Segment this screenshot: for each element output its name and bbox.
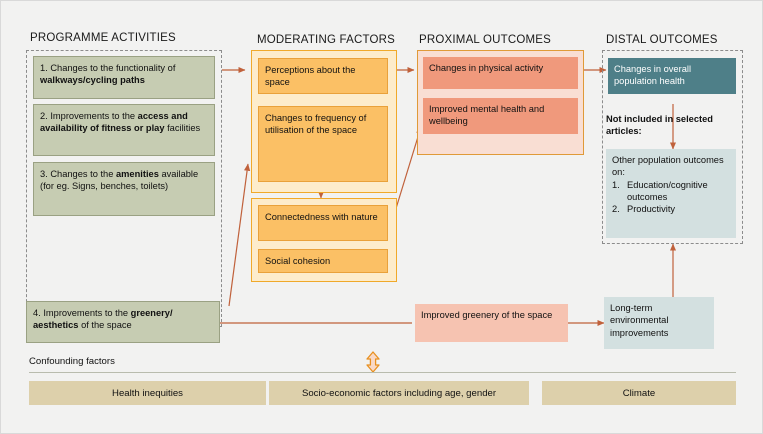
activity-box-2[interactable]: 2. Improvements to the access and availa… [33,104,215,156]
distal-box-population-health[interactable]: Changes in overall population health [608,58,736,94]
other-outcomes-list: 1. Education/cognitive outcomes 2. Produ… [612,179,730,216]
activity-box-4[interactable]: 4. Improvements to the greenery/ aesthet… [26,301,220,343]
confounding-bar-health-inequities[interactable]: Health inequities [29,381,266,405]
other-outcomes-item-1-text: Education/cognitive outcomes [627,179,730,204]
other-outcomes-item-2: 2. Productivity [612,203,730,215]
activity-2-text-lead: 2. Improvements to the [40,111,138,121]
other-outcomes-item-1: 1. Education/cognitive outcomes [612,179,730,204]
activity-2-text-tail: facilities [165,123,201,133]
activity-box-3[interactable]: 3. Changes to the amenities available (f… [33,162,215,216]
moderating-box-connectedness[interactable]: Connectedness with nature [258,205,388,241]
activity-1-text-bold: walkways/cycling paths [40,75,145,85]
confounding-bar-socio-economic[interactable]: Socio-economic factors including age, ge… [269,381,529,405]
distal-box-long-term[interactable]: Long-term environmental improvements [604,297,714,349]
other-outcomes-heading: Other population outcomes on: [612,154,730,179]
confounding-bar-climate[interactable]: Climate [542,381,736,405]
column-title-distal-outcomes: DISTAL OUTCOMES [606,34,718,46]
other-outcomes-item-1-num: 1. [612,179,623,204]
activity-4-text-tail: of the space [78,320,131,330]
up-down-arrow-icon [363,351,383,373]
diagram-canvas: PROGRAMME ACTIVITIES MODERATING FACTORS … [0,0,763,434]
activity-box-1[interactable]: 1. Changes to the functionality of walkw… [33,56,215,99]
other-outcomes-item-2-text: Productivity [627,203,675,215]
column-title-programme-activities: PROGRAMME ACTIVITIES [30,32,176,44]
activity-4-text-lead: 4. Improvements to the [33,308,131,318]
activity-3-text-lead: 3. Changes to the [40,169,116,179]
moderating-box-social-cohesion[interactable]: Social cohesion [258,249,388,273]
other-outcomes-item-2-num: 2. [612,203,623,215]
moderating-box-frequency[interactable]: Changes to frequency of utilisation of t… [258,106,388,182]
proximal-box-physical-activity[interactable]: Changes in physical activity [423,57,578,89]
distal-not-included-note: Not included in selected articles: [606,113,734,143]
moderating-box-perceptions[interactable]: Perceptions about the space [258,58,388,94]
column-title-proximal-outcomes: PROXIMAL OUTCOMES [419,34,551,46]
confounding-divider [29,372,736,373]
activity-3-text-bold: amenities [116,169,159,179]
arrow-greenery-to-moderating [229,164,248,306]
column-title-moderating-factors: MODERATING FACTORS [257,34,395,46]
proximal-box-mental-health[interactable]: Improved mental health and wellbeing [423,98,578,134]
distal-box-other-outcomes[interactable]: Other population outcomes on: 1. Educati… [606,149,736,238]
confounding-factors-label: Confounding factors [29,356,115,367]
activity-1-text-lead: 1. Changes to the functionality of [40,63,175,73]
proximal-box-improved-greenery[interactable]: Improved greenery of the space [415,304,568,342]
